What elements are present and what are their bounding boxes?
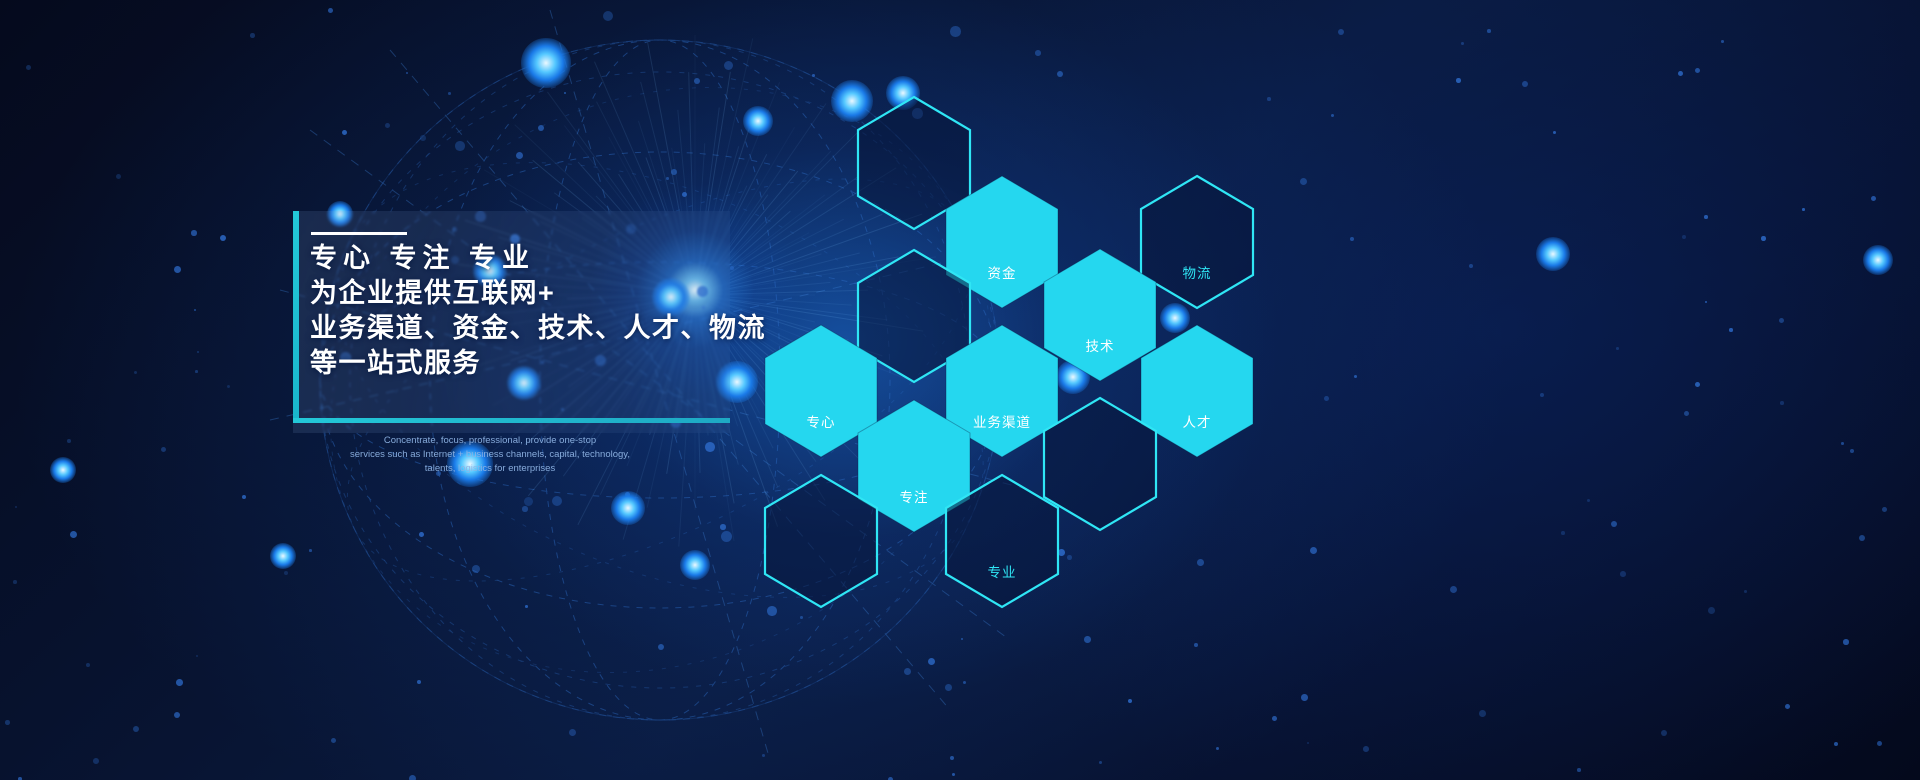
- panel-underline: [293, 418, 730, 423]
- svg-text:e: e: [1129, 457, 1137, 476]
- hexagon-shape: [943, 473, 1061, 609]
- headline-block: 专心 专注 专业 为企业提供互联网+ 业务渠道、资金、技术、人才、物流 等一站式…: [310, 241, 780, 381]
- hexagon-cluster: 资金 物流 技术 专心 业务渠道 人才 专注: [735, 95, 1295, 540]
- hexagon-label-zhuanye: 专业: [943, 561, 1061, 581]
- subtitle-line-3: talents, logistics for enterprises: [340, 462, 640, 476]
- headline-line-2: 为企业提供互联网+: [310, 276, 780, 311]
- subtitle-line-2: services such as Internet + business cha…: [340, 448, 640, 462]
- headline-line-3: 业务渠道、资金、技术、人才、物流: [310, 311, 780, 346]
- hexagon-atom[interactable]: [762, 473, 880, 609]
- subtitle-line-1: Concentrate, focus, professional, provid…: [340, 434, 640, 448]
- panel-accent-bar: [293, 211, 299, 423]
- hexagon-zhuanye[interactable]: 专业: [943, 473, 1061, 609]
- headline-line-4: 等一站式服务: [310, 346, 780, 381]
- tech-service-banner: 专心 专注 专业 为企业提供互联网+ 业务渠道、资金、技术、人才、物流 等一站式…: [0, 0, 1920, 780]
- subtitle-block: Concentrate, focus, professional, provid…: [340, 434, 640, 476]
- headline-rule: [311, 232, 407, 235]
- headline-line-1: 专心 专注 专业: [310, 241, 780, 276]
